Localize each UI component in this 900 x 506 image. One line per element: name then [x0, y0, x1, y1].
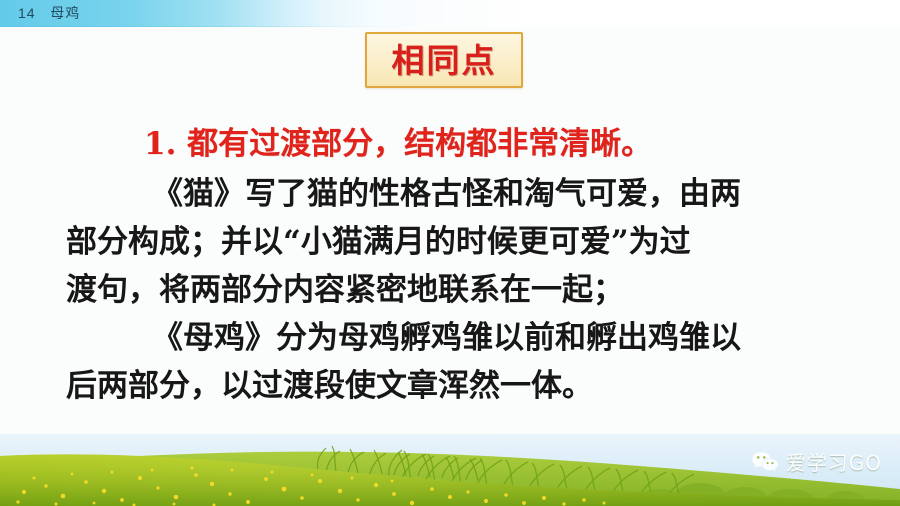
slide-canvas: 14 母鸡 相同点 1. 都有过渡部分，结构都非常清晰。 《猫》写了猫的性格古怪… — [0, 0, 900, 506]
meadow-illustration: 爱学习GO — [0, 434, 900, 506]
header-bar: 14 母鸡 — [0, 0, 900, 27]
watermark-label: 爱学习GO — [786, 447, 882, 476]
lesson-header-label: 14 母鸡 — [18, 3, 80, 23]
paragraph-line-1: 《猫》写了猫的性格古怪和淘气可爱，由两 — [0, 170, 900, 218]
title-box: 相同点 — [365, 32, 523, 88]
content-body: 1. 都有过渡部分，结构都非常清晰。 《猫》写了猫的性格古怪和淘气可爱，由两 部… — [0, 118, 900, 410]
page-title: 相同点 — [392, 44, 497, 77]
paragraph-line-5: 后两部分，以过渡段使文章浑然一体。 — [0, 362, 900, 410]
wechat-logo-icon — [751, 450, 779, 474]
paragraph-line-3: 渡句，将两部分内容紧密地联系在一起； — [0, 266, 900, 314]
paragraph-line-4: 《母鸡》分为母鸡孵鸡雏以前和孵出鸡雏以 — [0, 314, 900, 362]
watermark: 爱学习GO — [751, 447, 882, 476]
paragraph-line-2: 部分构成；并以“小猫满月的时候更可爱”为过 — [0, 218, 900, 266]
red-point-line: 1. 都有过渡部分，结构都非常清晰。 — [0, 118, 900, 170]
